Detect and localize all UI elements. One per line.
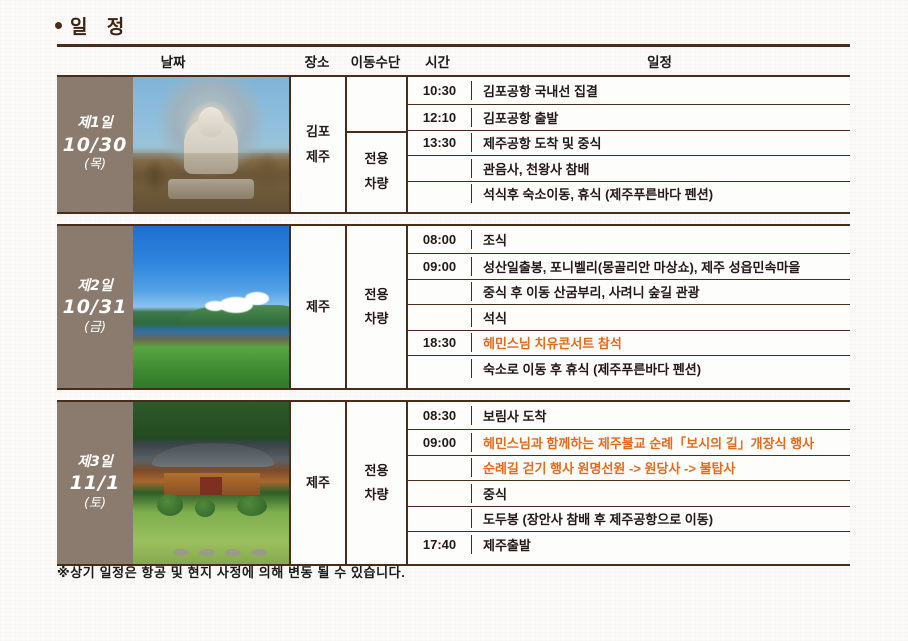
- place-cell: 제주: [289, 402, 345, 564]
- schedule-text: 제주공항 도착 및 중식: [471, 133, 850, 152]
- table-row: 중식 후 이동 산굼부리, 사려니 숲길 관광: [408, 279, 850, 305]
- table-row: 중식: [408, 480, 850, 506]
- day-date: 11/1: [70, 471, 121, 495]
- time-value: 12:10: [408, 110, 471, 125]
- day-blocks-container: 제1일10/30(목)김포제주전용차량10:30김포공항 국내선 집결12:10…: [57, 75, 850, 566]
- schedule-text: 보림사 도착: [471, 406, 850, 425]
- schedule-text: 석식후 숙소이동, 휴식 (제주푸른바다 펜션): [471, 184, 850, 203]
- transport-label: 차량: [365, 172, 389, 196]
- schedule-rows: 08:00조식09:00성산일출봉, 포니벨리(몽골리안 마상쇼), 제주 성읍…: [406, 226, 850, 388]
- day-weekday: (금): [84, 320, 106, 337]
- temple-door: [200, 477, 222, 495]
- footnote: ※상기 일정은 항공 및 현지 사정에 의해 변동 될 수 있습니다.: [57, 562, 405, 581]
- transport-label: 전용: [365, 283, 389, 307]
- time-value: 08:30: [408, 408, 471, 423]
- stepping-stone: [225, 549, 241, 556]
- transport-label: 차량: [365, 307, 389, 331]
- schedule-text-highlighted: 헤민스님 치유콘서트 참석: [471, 333, 850, 352]
- day-number: 제3일: [77, 454, 113, 472]
- page-title-text: 일 정: [70, 12, 131, 39]
- time-value: 13:30: [408, 135, 471, 150]
- seongsan-ilchulbong-photo: [133, 226, 289, 388]
- shrub: [237, 496, 267, 516]
- day-date: 10/30: [63, 133, 128, 157]
- transport-cell: 전용차량: [345, 226, 406, 388]
- schedule-text: 김포공항 출발: [471, 108, 850, 127]
- table-row: 18:30헤민스님 치유콘서트 참석: [408, 330, 850, 356]
- time-value: 08:00: [408, 232, 471, 247]
- schedule-text: 김포공항 국내선 집결: [471, 81, 850, 100]
- time-value: 09:00: [408, 435, 471, 450]
- day-weekday: (목): [84, 157, 106, 174]
- statue-head: [198, 107, 224, 137]
- shrub: [195, 499, 215, 517]
- table-row: 09:00헤민스님과 함께하는 제주불교 순례「보시의 길」개장식 행사: [408, 429, 850, 455]
- schedule-text: 조식: [471, 230, 850, 249]
- day-weekday: (토): [84, 496, 106, 513]
- day-date: 10/31: [63, 295, 128, 319]
- day-block-gap: [57, 214, 850, 224]
- stepping-stone: [251, 549, 267, 556]
- transport-cell: 전용차량: [345, 77, 406, 212]
- schedule-text: 성산일출봉, 포니벨리(몽골리안 마상쇼), 제주 성읍민속마을: [471, 257, 850, 276]
- schedule-text: 석식: [471, 308, 850, 327]
- table-row: 관음사, 천왕사 참배: [408, 155, 850, 181]
- schedule-text: 도두봉 (장안사 참배 후 제주공항으로 이동): [471, 509, 850, 528]
- table-row: 석식후 숙소이동, 휴식 (제주푸른바다 펜션): [408, 181, 850, 207]
- transport-label-part: 전용차량: [347, 402, 406, 564]
- header-date: 날짜: [57, 51, 289, 71]
- table-row: 도두봉 (장안사 참배 후 제주공항으로 이동): [408, 506, 850, 532]
- date-cell: 제3일11/1(토): [57, 402, 133, 564]
- place-label: 제주: [306, 471, 330, 495]
- day-number: 제2일: [77, 278, 113, 296]
- date-cell: 제2일10/31(금): [57, 226, 133, 388]
- table-header-row: 날짜 장소 이동수단 시간 일정: [57, 47, 850, 75]
- place-label: 제주: [306, 295, 330, 319]
- table-row: 석식: [408, 304, 850, 330]
- schedule-text: 숙소로 이동 후 휴식 (제주푸른바다 펜션): [471, 359, 850, 378]
- place-cell: 김포제주: [289, 77, 345, 212]
- table-row: 10:30김포공항 국내선 집결: [408, 77, 850, 104]
- time-value: 10:30: [408, 83, 471, 98]
- header-place: 장소: [289, 51, 345, 71]
- stepping-stone: [173, 549, 189, 556]
- temple-roof: [152, 443, 274, 467]
- table-row: 17:40제주출발: [408, 531, 850, 557]
- schedule-text: 중식: [471, 484, 850, 503]
- table-row: 숙소로 이동 후 휴식 (제주푸른바다 펜션): [408, 355, 850, 381]
- table-row: 09:00성산일출봉, 포니벨리(몽골리안 마상쇼), 제주 성읍민속마을: [408, 253, 850, 279]
- stepping-stone: [199, 549, 215, 556]
- day-block-gap: [57, 390, 850, 400]
- transport-empty-part: [347, 77, 406, 131]
- schedule-text: 관음사, 천왕사 참배: [471, 159, 850, 178]
- time-value: 17:40: [408, 537, 471, 552]
- schedule-rows: 08:30보림사 도착09:00헤민스님과 함께하는 제주불교 순례「보시의 길…: [406, 402, 850, 564]
- transport-label: 전용: [365, 459, 389, 483]
- page-title: 일 정: [55, 12, 131, 39]
- transport-label-part: 전용차량: [347, 226, 406, 388]
- transport-cell: 전용차량: [345, 402, 406, 564]
- schedule-text: 제주출발: [471, 535, 850, 554]
- time-value: 09:00: [408, 259, 471, 274]
- day-block: 제1일10/30(목)김포제주전용차량10:30김포공항 국내선 집결12:10…: [57, 75, 850, 214]
- shrub: [157, 494, 183, 516]
- schedule-text-highlighted: 순례길 걷기 행사 원명선원 -> 원당사 -> 불탑사: [471, 458, 850, 477]
- place-label: 제주: [306, 145, 330, 169]
- table-row: 순례길 걷기 행사 원명선원 -> 원당사 -> 불탑사: [408, 455, 850, 481]
- schedule-rows: 10:30김포공항 국내선 집결12:10김포공항 출발13:30제주공항 도착…: [406, 77, 850, 212]
- header-transport: 이동수단: [345, 51, 406, 71]
- time-value: 18:30: [408, 335, 471, 350]
- buddha-statue-photo: [133, 77, 289, 212]
- itinerary-table: 날짜 장소 이동수단 시간 일정 제1일10/30(목)김포제주전용차량10:3…: [57, 44, 850, 566]
- place-label: 김포: [306, 120, 330, 144]
- place-cell: 제주: [289, 226, 345, 388]
- table-row: 08:30보림사 도착: [408, 402, 850, 429]
- day-number: 제1일: [77, 115, 113, 133]
- header-schedule: 일정: [469, 51, 850, 71]
- transport-label: 차량: [365, 483, 389, 507]
- table-row: 08:00조식: [408, 226, 850, 253]
- transport-label-part: 전용차량: [347, 131, 406, 210]
- cloud: [245, 292, 269, 305]
- schedule-text: 중식 후 이동 산굼부리, 사려니 숲길 관광: [471, 282, 850, 301]
- schedule-text-highlighted: 헤민스님과 함께하는 제주불교 순례「보시의 길」개장식 행사: [471, 433, 850, 452]
- day-block: 제3일11/1(토)제주전용차량08:30보림사 도착09:00헤민스님과 함께…: [57, 400, 850, 566]
- day-block: 제2일10/31(금)제주전용차량08:00조식09:00성산일출봉, 포니벨리…: [57, 224, 850, 390]
- korean-temple-photo: [133, 402, 289, 564]
- header-time: 시간: [406, 51, 469, 71]
- bullet-dot-icon: [55, 22, 62, 29]
- table-row: 12:10김포공항 출발: [408, 104, 850, 130]
- date-cell: 제1일10/30(목): [57, 77, 133, 212]
- table-row: 13:30제주공항 도착 및 중식: [408, 130, 850, 156]
- transport-label: 전용: [365, 147, 389, 171]
- statue-pedestal: [168, 179, 254, 199]
